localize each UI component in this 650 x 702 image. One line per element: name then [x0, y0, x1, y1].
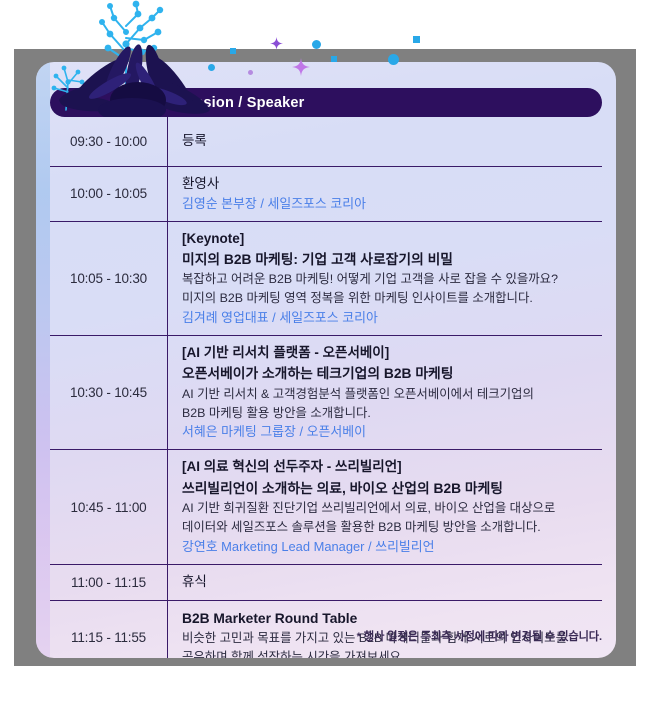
agenda-row: 09:30 - 10:00등록 — [50, 117, 602, 166]
session-headline: 오픈서베이가 소개하는 테크기업의 B2B 마케팅 — [182, 363, 602, 384]
session-headline: 쓰리빌리언이 소개하는 의료, 바이오 산업의 B2B 마케팅 — [182, 478, 602, 499]
agenda-table: 09:30 - 10:00등록10:00 - 10:05환영사김영순 본부장 /… — [50, 117, 602, 658]
session-headline: 미지의 B2B 마케팅: 기업 고객 사로잡기의 비밀 — [182, 249, 602, 270]
session-headline: B2B Marketer Round Table — [182, 608, 602, 629]
session-speaker[interactable]: 김겨례 영업대표 / 세일즈포스 코리아 — [182, 308, 602, 328]
agenda-row: 10:00 - 10:05환영사김영순 본부장 / 세일즈포스 코리아 — [50, 166, 602, 221]
row-time-cell: 09:30 - 10:00 — [50, 117, 168, 166]
row-session-cell: 휴식 — [168, 564, 603, 600]
row-time-cell: 11:00 - 11:15 — [50, 564, 168, 600]
session-description-line: AI 기반 희귀질환 진단기업 쓰리빌리언에서 의료, 바이오 산업을 대상으로 — [182, 499, 602, 518]
session-speaker[interactable]: 강연호 Marketing Lead Manager / 쓰리빌리언 — [182, 537, 602, 557]
row-session-cell: 등록 — [168, 117, 603, 166]
agenda-row: 11:00 - 11:15휴식 — [50, 564, 602, 600]
session-bracket: [AI 의료 혁신의 선두주자 - 쓰리빌리언] — [182, 457, 602, 477]
session-speaker[interactable]: 김영순 본부장 / 세일즈포스 코리아 — [182, 194, 602, 214]
row-time-cell: 10:30 - 10:45 — [50, 336, 168, 450]
session-title: 등록 — [182, 131, 602, 151]
sparkle-square-3 — [413, 36, 420, 43]
session-description-line: B2B 마케팅 활용 방안을 소개합니다. — [182, 404, 602, 423]
session-description-line: 미지의 B2B 마케팅 영역 정복을 위한 마케팅 인사이트를 소개합니다. — [182, 289, 602, 308]
agenda-card: Time Session / Speaker 09:30 - 10:00등록10… — [36, 62, 616, 658]
header-session-label: Session / Speaker — [163, 95, 305, 111]
agenda-row: 10:05 - 10:30[Keynote]미지의 B2B 마케팅: 기업 고객… — [50, 221, 602, 335]
screenshot-root: Time Session / Speaker 09:30 - 10:00등록10… — [0, 0, 650, 702]
row-session-cell: [AI 기반 리서치 플랫폼 - 오픈서베이]오픈서베이가 소개하는 테크기업의… — [168, 336, 603, 450]
agenda-card-inner: Time Session / Speaker 09:30 - 10:00등록10… — [36, 62, 616, 658]
row-session-cell: [Keynote]미지의 B2B 마케팅: 기업 고객 사로잡기의 비밀복잡하고… — [168, 221, 603, 335]
agenda-footnote: * 행사 일정은 주최측 사정에 따라 변경될 수 있습니다. — [50, 628, 602, 644]
row-session-cell: [AI 의료 혁신의 선두주자 - 쓰리빌리언]쓰리빌리언이 소개하는 의료, … — [168, 450, 603, 564]
sparkle-dot-2 — [312, 40, 321, 49]
session-description-line: 복잡하고 어려운 B2B 마케팅! 어떻게 기업 고객을 사로 잡을 수 있을까… — [182, 270, 602, 289]
header-time-label: Time — [50, 95, 162, 111]
row-session-cell: 환영사김영순 본부장 / 세일즈포스 코리아 — [168, 166, 603, 221]
session-title: 환영사 — [182, 174, 602, 194]
session-description-line: 공유하며 함께 성장하는 시간을 가져보세요. — [182, 648, 602, 658]
row-time-cell: 10:45 - 11:00 — [50, 450, 168, 564]
session-title: 휴식 — [182, 572, 602, 592]
session-bracket: [Keynote] — [182, 229, 602, 249]
session-description-line: AI 기반 리서치 & 고객경험분석 플랫폼인 오픈서베이에서 테크기업의 — [182, 385, 602, 404]
row-time-cell: 10:05 - 10:30 — [50, 221, 168, 335]
table-header: Time Session / Speaker — [50, 88, 602, 117]
session-bracket: [AI 기반 리서치 플랫폼 - 오픈서베이] — [182, 343, 602, 363]
row-time-cell: 10:00 - 10:05 — [50, 166, 168, 221]
session-description-line: 데이터와 세일즈포스 솔루션을 활용한 B2B 마케팅 방안을 소개합니다. — [182, 518, 602, 537]
agenda-row: 10:30 - 10:45[AI 기반 리서치 플랫폼 - 오픈서베이]오픈서베… — [50, 336, 602, 450]
agenda-row: 10:45 - 11:00[AI 의료 혁신의 선두주자 - 쓰리빌리언]쓰리빌… — [50, 450, 602, 564]
session-speaker[interactable]: 서혜은 마케팅 그룹장 / 오픈서베이 — [182, 422, 602, 442]
